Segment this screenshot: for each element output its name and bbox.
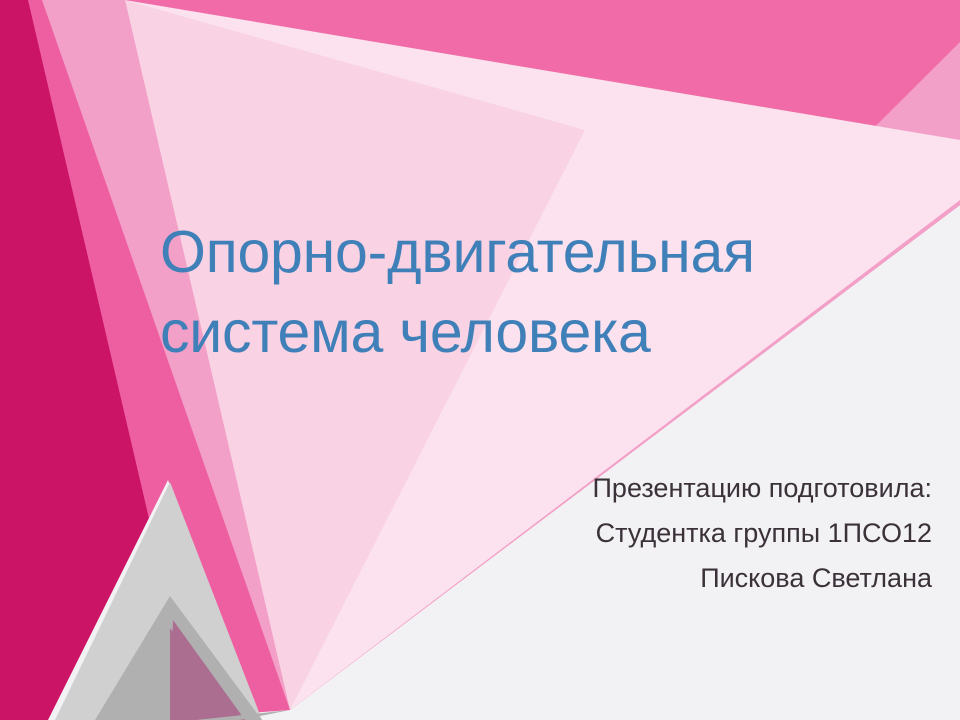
slide-title: Опорно-двигательная система человека <box>160 212 950 372</box>
title-line-1: Опорно-двигательная <box>160 212 950 292</box>
subtitle-line-name: Пискова Светлана <box>292 556 932 601</box>
title-line-2: система человека <box>160 292 950 372</box>
slide-subtitle: Презентацию подготовила: Студентка групп… <box>292 466 932 600</box>
subtitle-line-group: Студентка группы 1ПСО12 <box>292 511 932 556</box>
presentation-slide: Опорно-двигательная система человека Пре… <box>0 0 960 720</box>
slide-content: Опорно-двигательная система человека Пре… <box>0 0 960 720</box>
subtitle-line-author-label: Презентацию подготовила: <box>292 466 932 511</box>
